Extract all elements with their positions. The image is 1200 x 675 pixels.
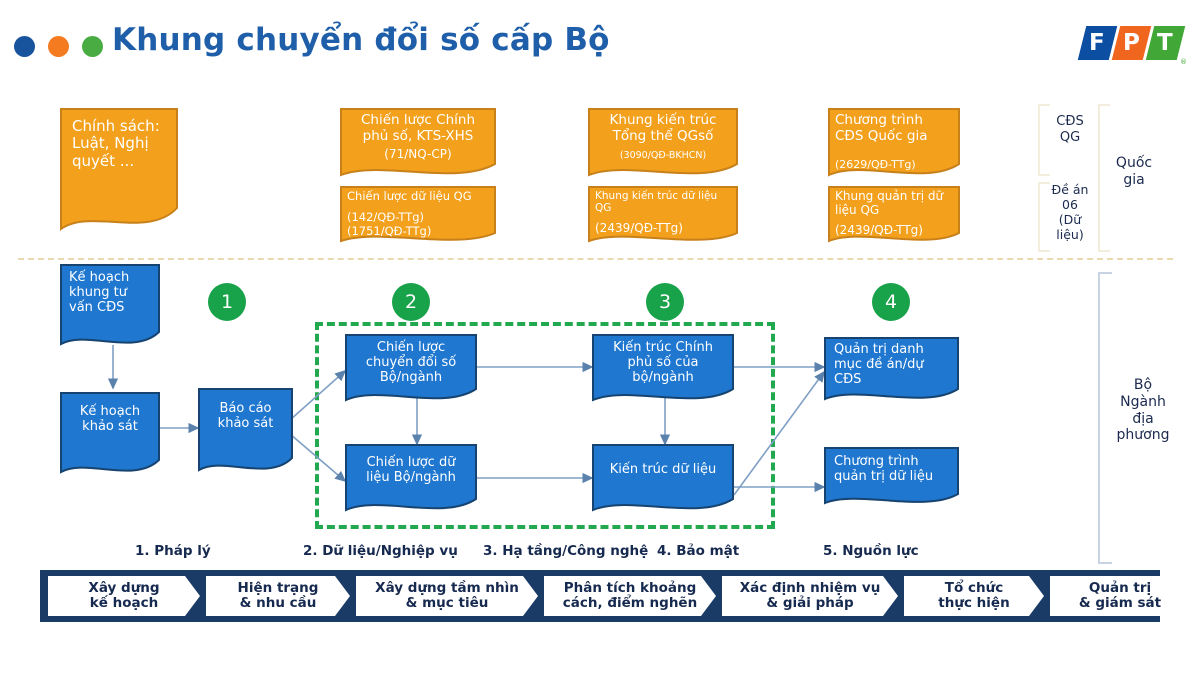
legend-item-4: 4. Bảo mật bbox=[657, 543, 739, 559]
policy-card-0-bottom-code: (142/QĐ-TTg) (1751/QĐ-TTg) bbox=[340, 205, 496, 239]
policy-card-0-bottom-title: Chiến lược dữ liệu QG bbox=[340, 186, 496, 203]
registered-icon: ® bbox=[1180, 58, 1187, 66]
policy-card-2-top: Chương trình CĐS Quốc gia (2629/QĐ-TTg) bbox=[828, 108, 960, 180]
bracket-cds-qg bbox=[1038, 104, 1050, 176]
process-bar: Xây dựng kế hoạch Hiện trạng & nhu cầu X… bbox=[40, 570, 1160, 622]
process-step-0[interactable]: Xây dựng kế hoạch bbox=[48, 576, 200, 616]
fpt-logo: F P T ® bbox=[1082, 26, 1186, 66]
policy-card-0-top-code: (71/NQ-CP) bbox=[340, 148, 496, 162]
bracket-label-de-an-06: Đề án 06 (Dữ liệu) bbox=[1046, 182, 1094, 242]
policy-card-2-bottom-code: (2439/QĐ-TTg) bbox=[828, 218, 960, 238]
policy-card-0-top-title: Chiến lược Chính phủ số, KTS-XHS bbox=[340, 108, 496, 144]
flow-box-quan-tri-danh-muc: Quản trị danh mục đề án/dự CĐS bbox=[824, 337, 959, 405]
flow-box-chuong-trinh-qtdl: Chương trình quản trị dữ liệu bbox=[824, 447, 959, 509]
process-step-3[interactable]: Phân tích khoảng cách, điểm nghẽn bbox=[544, 576, 716, 616]
bracket-label-quoc-gia: Quốc gia bbox=[1106, 155, 1162, 189]
policy-card-2-bottom-title: Khung quản trị dữ liệu QG bbox=[828, 186, 960, 218]
policy-card-0-bottom: Chiến lược dữ liệu QG (142/QĐ-TTg) (1751… bbox=[340, 186, 496, 246]
flow-box-chien-luoc-du-lieu-label: Chiến lược dữ liệu Bộ/ngành bbox=[345, 444, 477, 485]
policy-card-0-top: Chiến lược Chính phủ số, KTS-XHS (71/NQ-… bbox=[340, 108, 496, 180]
section-divider bbox=[18, 258, 1173, 260]
policy-box-chinh-sach: Chính sách: Luật, Nghị quyết ... bbox=[60, 108, 178, 234]
legend-item-5: 5. Nguồn lực bbox=[823, 543, 919, 559]
flow-box-kien-truc-cp-so: Kiến trúc Chính phủ số của bộ/ngành bbox=[592, 334, 734, 406]
process-step-5[interactable]: Tổ chức thực hiện bbox=[904, 576, 1044, 616]
policy-card-1-bottom-code: (2439/QĐ-TTg) bbox=[588, 216, 738, 236]
flow-box-ke-hoach-khao-sat-label: Kế hoạch khảo sát bbox=[60, 392, 160, 434]
step-circle-3: 3 bbox=[646, 283, 684, 321]
flow-box-kien-truc-du-lieu: Kiến trúc dữ liệu bbox=[592, 444, 734, 516]
flow-box-chuong-trinh-qtdl-label: Chương trình quản trị dữ liệu bbox=[824, 447, 959, 484]
policy-box-text: Chính sách: Luật, Nghị quyết ... bbox=[60, 108, 178, 170]
page-title: Khung chuyển đổi số cấp Bộ bbox=[112, 22, 610, 58]
flow-box-chien-luoc-cds: Chiến lược chuyển đổi số Bộ/ngành bbox=[345, 334, 477, 406]
bracket-label-cds-qg: CĐS QG bbox=[1050, 114, 1090, 145]
flow-box-chien-luoc-cds-label: Chiến lược chuyển đổi số Bộ/ngành bbox=[345, 334, 477, 385]
logo-letter-t: T bbox=[1157, 30, 1173, 56]
step-circle-4: 4 bbox=[872, 283, 910, 321]
policy-card-2-bottom: Khung quản trị dữ liệu QG (2439/QĐ-TTg) bbox=[828, 186, 960, 246]
policy-card-2-top-title: Chương trình CĐS Quốc gia bbox=[828, 108, 960, 144]
flow-box-ke-hoach-khung: Kế hoạch khung tư vấn CĐS bbox=[60, 264, 160, 350]
logo-letter-p: P bbox=[1123, 30, 1140, 56]
policy-card-1-top: Khung kiến trúc Tổng thể QGsố (3090/QĐ-B… bbox=[588, 108, 738, 180]
step-circle-2: 2 bbox=[392, 283, 430, 321]
legend-item-1: 1. Pháp lý bbox=[135, 543, 211, 559]
flow-box-chien-luoc-du-lieu: Chiến lược dữ liệu Bộ/ngành bbox=[345, 444, 477, 516]
flow-box-kien-truc-cp-so-label: Kiến trúc Chính phủ số của bộ/ngành bbox=[592, 334, 734, 385]
policy-card-2-top-code: (2629/QĐ-TTg) bbox=[828, 153, 960, 172]
process-step-2[interactable]: Xây dựng tầm nhìn & mục tiêu bbox=[356, 576, 538, 616]
process-step-1[interactable]: Hiện trạng & nhu cầu bbox=[206, 576, 350, 616]
orange-dot bbox=[48, 36, 69, 57]
flow-box-bao-cao-khao-sat-label: Báo cáo khảo sát bbox=[198, 388, 293, 431]
flow-box-kien-truc-du-lieu-label: Kiến trúc dữ liệu bbox=[592, 444, 734, 477]
process-step-6[interactable]: Quản trị & giám sát bbox=[1050, 576, 1190, 616]
flow-box-ke-hoach-khung-label: Kế hoạch khung tư vấn CĐS bbox=[60, 264, 160, 315]
blue-dot bbox=[14, 36, 35, 57]
legend-item-3: 3. Hạ tầng/Công nghệ bbox=[483, 543, 648, 559]
legend-item-2: 2. Dữ liệu/Nghiệp vụ bbox=[303, 543, 458, 559]
logo-letter-f: F bbox=[1089, 30, 1105, 56]
policy-card-1-bottom: Khung kiến trúc dữ liệu QG (2439/QĐ-TTg) bbox=[588, 186, 738, 246]
green-dot bbox=[82, 36, 103, 57]
bracket-label-bo-nganh: Bộ Ngành địa phương bbox=[1108, 377, 1178, 444]
policy-card-1-top-title: Khung kiến trúc Tổng thể QGsố bbox=[588, 108, 738, 144]
slide-canvas: Khung chuyển đổi số cấp Bộ F P T ® Chính… bbox=[0, 0, 1200, 675]
policy-card-1-bottom-title: Khung kiến trúc dữ liệu QG bbox=[588, 186, 738, 214]
step-circle-1: 1 bbox=[208, 283, 246, 321]
policy-card-1-top-code: (3090/QĐ-BKHCN) bbox=[588, 150, 738, 161]
flow-box-ke-hoach-khao-sat: Kế hoạch khảo sát bbox=[60, 392, 160, 478]
flow-box-bao-cao-khao-sat: Báo cáo khảo sát bbox=[198, 388, 293, 476]
process-step-4[interactable]: Xác định nhiệm vụ & giải pháp bbox=[722, 576, 898, 616]
flow-box-quan-tri-danh-muc-label: Quản trị danh mục đề án/dự CĐS bbox=[824, 337, 959, 387]
